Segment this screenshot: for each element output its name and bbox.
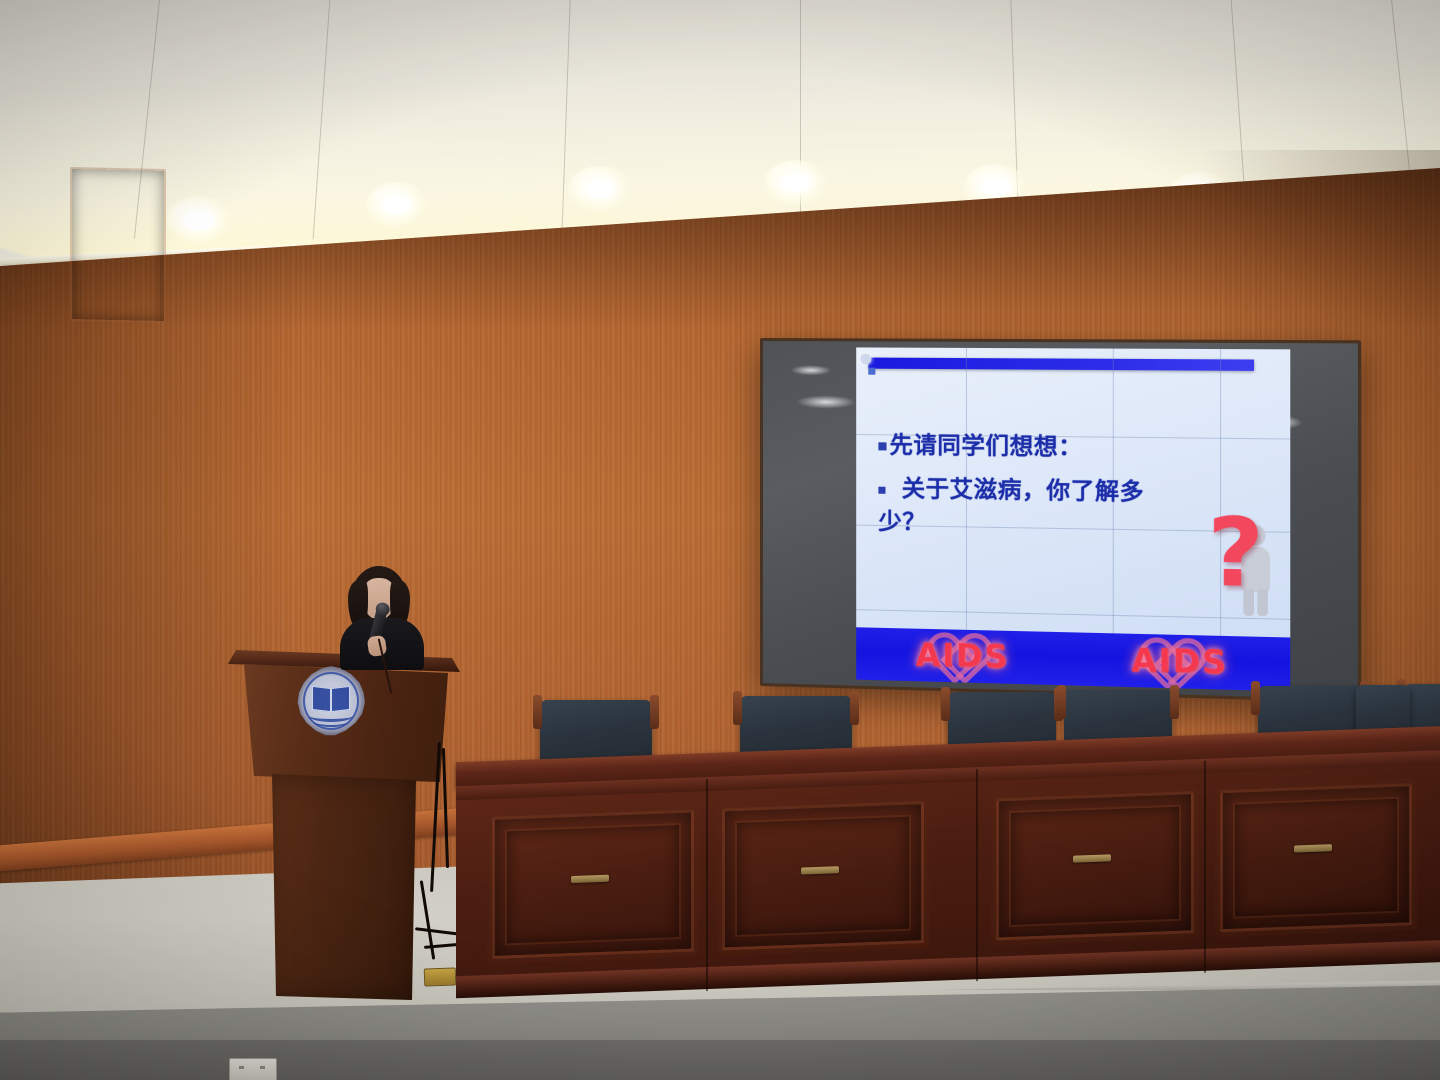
presentation-slide: 先请同学们想想： 关于艾滋病，你了解多 少？ ? bbox=[856, 347, 1290, 691]
presenter-person bbox=[334, 566, 430, 666]
wall-power-outlet bbox=[229, 1058, 277, 1080]
led-video-wall[interactable]: 先请同学们想想： 关于艾滋病，你了解多 少？ ? bbox=[760, 338, 1361, 703]
aids-word-1: AIDS bbox=[916, 637, 1010, 676]
emblem-wave-2 bbox=[314, 716, 348, 727]
square-bullet-icon bbox=[878, 442, 886, 450]
question-mark-graphic: ? bbox=[1207, 506, 1290, 619]
slide-corner-dot bbox=[860, 353, 871, 364]
conference-table bbox=[456, 726, 1440, 1009]
slide-title-bar bbox=[868, 358, 1254, 371]
podium-recessed-panel bbox=[70, 167, 166, 323]
slide-bullet-1: 先请同学们想想： bbox=[878, 430, 1277, 466]
brass-floor-outlet bbox=[424, 967, 457, 986]
open-book-icon bbox=[312, 687, 350, 711]
slide-bullet-2-line1: 关于艾滋病，你了解多 bbox=[902, 476, 1144, 506]
school-emblem bbox=[297, 666, 365, 736]
podium-column bbox=[266, 774, 422, 1000]
question-mark-icon: ? bbox=[1207, 506, 1264, 602]
square-bullet-icon bbox=[878, 486, 885, 493]
lecture-hall-photo: 先请同学们想想： 关于艾滋病，你了解多 少？ ? bbox=[0, 0, 1440, 1080]
slide-corner-square bbox=[868, 368, 875, 375]
slide-bullet-1-text: 先请同学们想想： bbox=[890, 432, 1083, 461]
floor-foreground bbox=[0, 1040, 1440, 1080]
slide-bullet-2-line2: 少？ bbox=[878, 508, 926, 535]
aids-word-2: AIDS bbox=[1131, 642, 1228, 681]
